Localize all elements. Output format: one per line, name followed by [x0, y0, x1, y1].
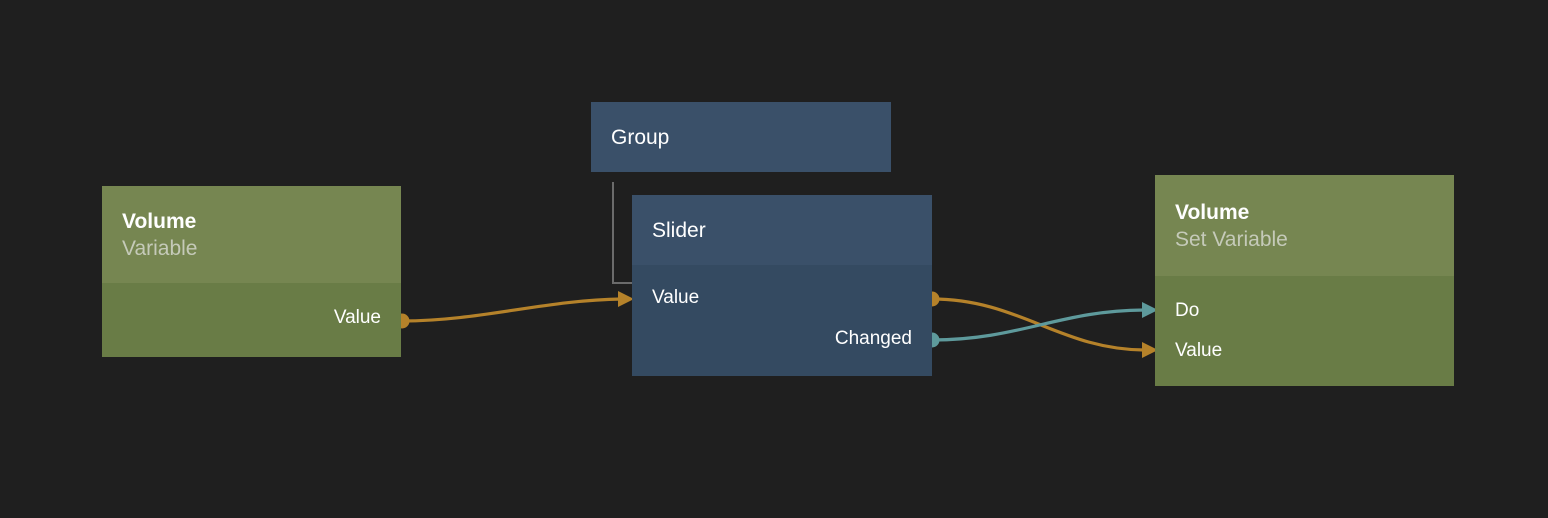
node-slider-body: Value Changed — [632, 265, 932, 376]
node-slider-title: Slider — [652, 217, 912, 244]
node-slider-header[interactable]: Slider — [632, 195, 932, 265]
port-variable-set-input-do[interactable]: Do — [1175, 300, 1199, 322]
port-variable-set-input-value[interactable]: Value — [1175, 340, 1222, 362]
wire-variable-value-to-slider-value — [402, 299, 622, 321]
node-variable-set-header[interactable]: Volume Set Variable — [1155, 175, 1454, 276]
wire-slider-changed-to-setvariable-do — [932, 310, 1146, 340]
wire-slider-value-to-setvariable-value — [932, 299, 1146, 350]
port-slider-input-value[interactable]: Value — [652, 287, 699, 309]
node-slider[interactable]: Slider Value Changed — [632, 195, 932, 376]
node-variable-set-body: Do Value — [1155, 276, 1454, 386]
node-variable-get-title: Volume — [122, 208, 381, 235]
node-variable-get-subtitle: Variable — [122, 235, 381, 262]
node-variable-get-body: Value — [102, 283, 401, 357]
node-variable-get-header[interactable]: Volume Variable — [102, 186, 401, 283]
node-group-title: Group — [611, 124, 871, 151]
node-variable-set-subtitle: Set Variable — [1175, 226, 1434, 253]
node-group-header[interactable]: Group — [591, 102, 891, 172]
port-slider-output-changed[interactable]: Changed — [835, 328, 912, 350]
port-variable-get-output-value[interactable]: Value — [334, 307, 381, 329]
node-group[interactable]: Group — [591, 102, 891, 172]
node-variable-set-title: Volume — [1175, 199, 1434, 226]
node-variable-get[interactable]: Volume Variable Value — [102, 186, 401, 357]
node-graph-canvas[interactable]: Volume Variable Value Group Slider Value… — [0, 0, 1548, 518]
node-variable-set[interactable]: Volume Set Variable Do Value — [1155, 175, 1454, 386]
